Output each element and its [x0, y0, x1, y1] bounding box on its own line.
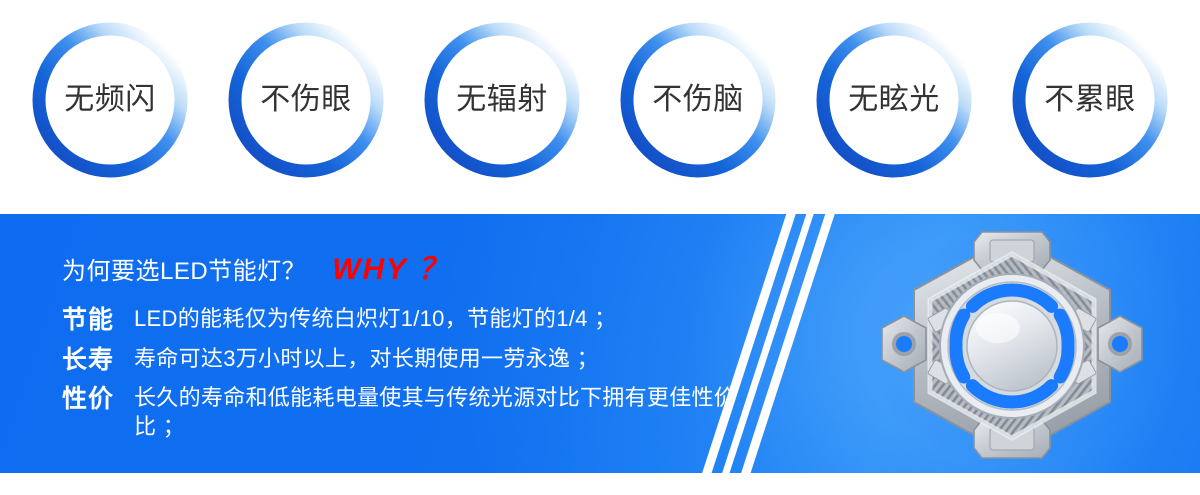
why-point-row: 节能 LED的能耗仅为传统白炽灯1/10，节能灯的1/4 ；	[62, 304, 744, 338]
why-heading-english: WHY ？	[332, 244, 450, 288]
why-heading-chinese: 为何要选LED节能灯？	[62, 251, 306, 286]
lamp-mounting-tab-left	[882, 316, 926, 372]
led-lamp-module-image	[842, 220, 1182, 470]
why-led-panel: 为何要选LED节能灯？ WHY ？ 节能 LED的能耗仅为传统白炽灯1/10，节…	[0, 214, 1200, 473]
feature-circle-3[interactable]: 不伤脑	[618, 20, 778, 180]
why-point-text: 寿命可达3万小时以上，对长期使用一劳永逸 ；	[134, 344, 599, 373]
feature-circle-label: 无频闪	[64, 85, 156, 115]
led-lamp-icon	[842, 220, 1182, 470]
feature-circle-0[interactable]: 无频闪	[30, 20, 190, 180]
feature-circle-2[interactable]: 无辐射	[422, 20, 582, 180]
why-point-label: 长寿	[62, 344, 134, 378]
why-point-text: 长久的寿命和低能耗电量使其与传统光源对比下拥有更佳性价比 ；	[134, 383, 744, 442]
why-point-text: LED的能耗仅为传统白炽灯1/10，节能灯的1/4 ；	[134, 304, 616, 333]
feature-circle-label: 不累眼	[1044, 85, 1136, 115]
lamp-center-dome	[967, 301, 1057, 391]
feature-circle-label: 不伤眼	[260, 85, 352, 115]
why-point-label: 节能	[62, 304, 134, 338]
feature-circle-label: 无眩光	[848, 85, 940, 115]
why-text-block: 为何要选LED节能灯？ WHY ？ 节能 LED的能耗仅为传统白炽灯1/10，节…	[62, 244, 744, 448]
feature-circle-5[interactable]: 不累眼	[1010, 20, 1170, 180]
why-point-row: 性价 长久的寿命和低能耗电量使其与传统光源对比下拥有更佳性价比 ；	[62, 383, 744, 442]
feature-circles-row: 无频闪 不伤眼	[0, 0, 1200, 200]
feature-circle-label: 无辐射	[456, 85, 548, 115]
why-heading-row: 为何要选LED节能灯？ WHY ？	[62, 244, 744, 288]
feature-circle-4[interactable]: 无眩光	[814, 20, 974, 180]
why-point-row: 长寿 寿命可达3万小时以上，对长期使用一劳永逸 ；	[62, 344, 744, 378]
lamp-dome-highlight	[976, 313, 1020, 343]
why-point-label: 性价	[62, 383, 134, 417]
lamp-mounting-tab-right	[1098, 316, 1142, 372]
feature-circle-1[interactable]: 不伤眼	[226, 20, 386, 180]
feature-circle-label: 不伤脑	[652, 85, 744, 115]
